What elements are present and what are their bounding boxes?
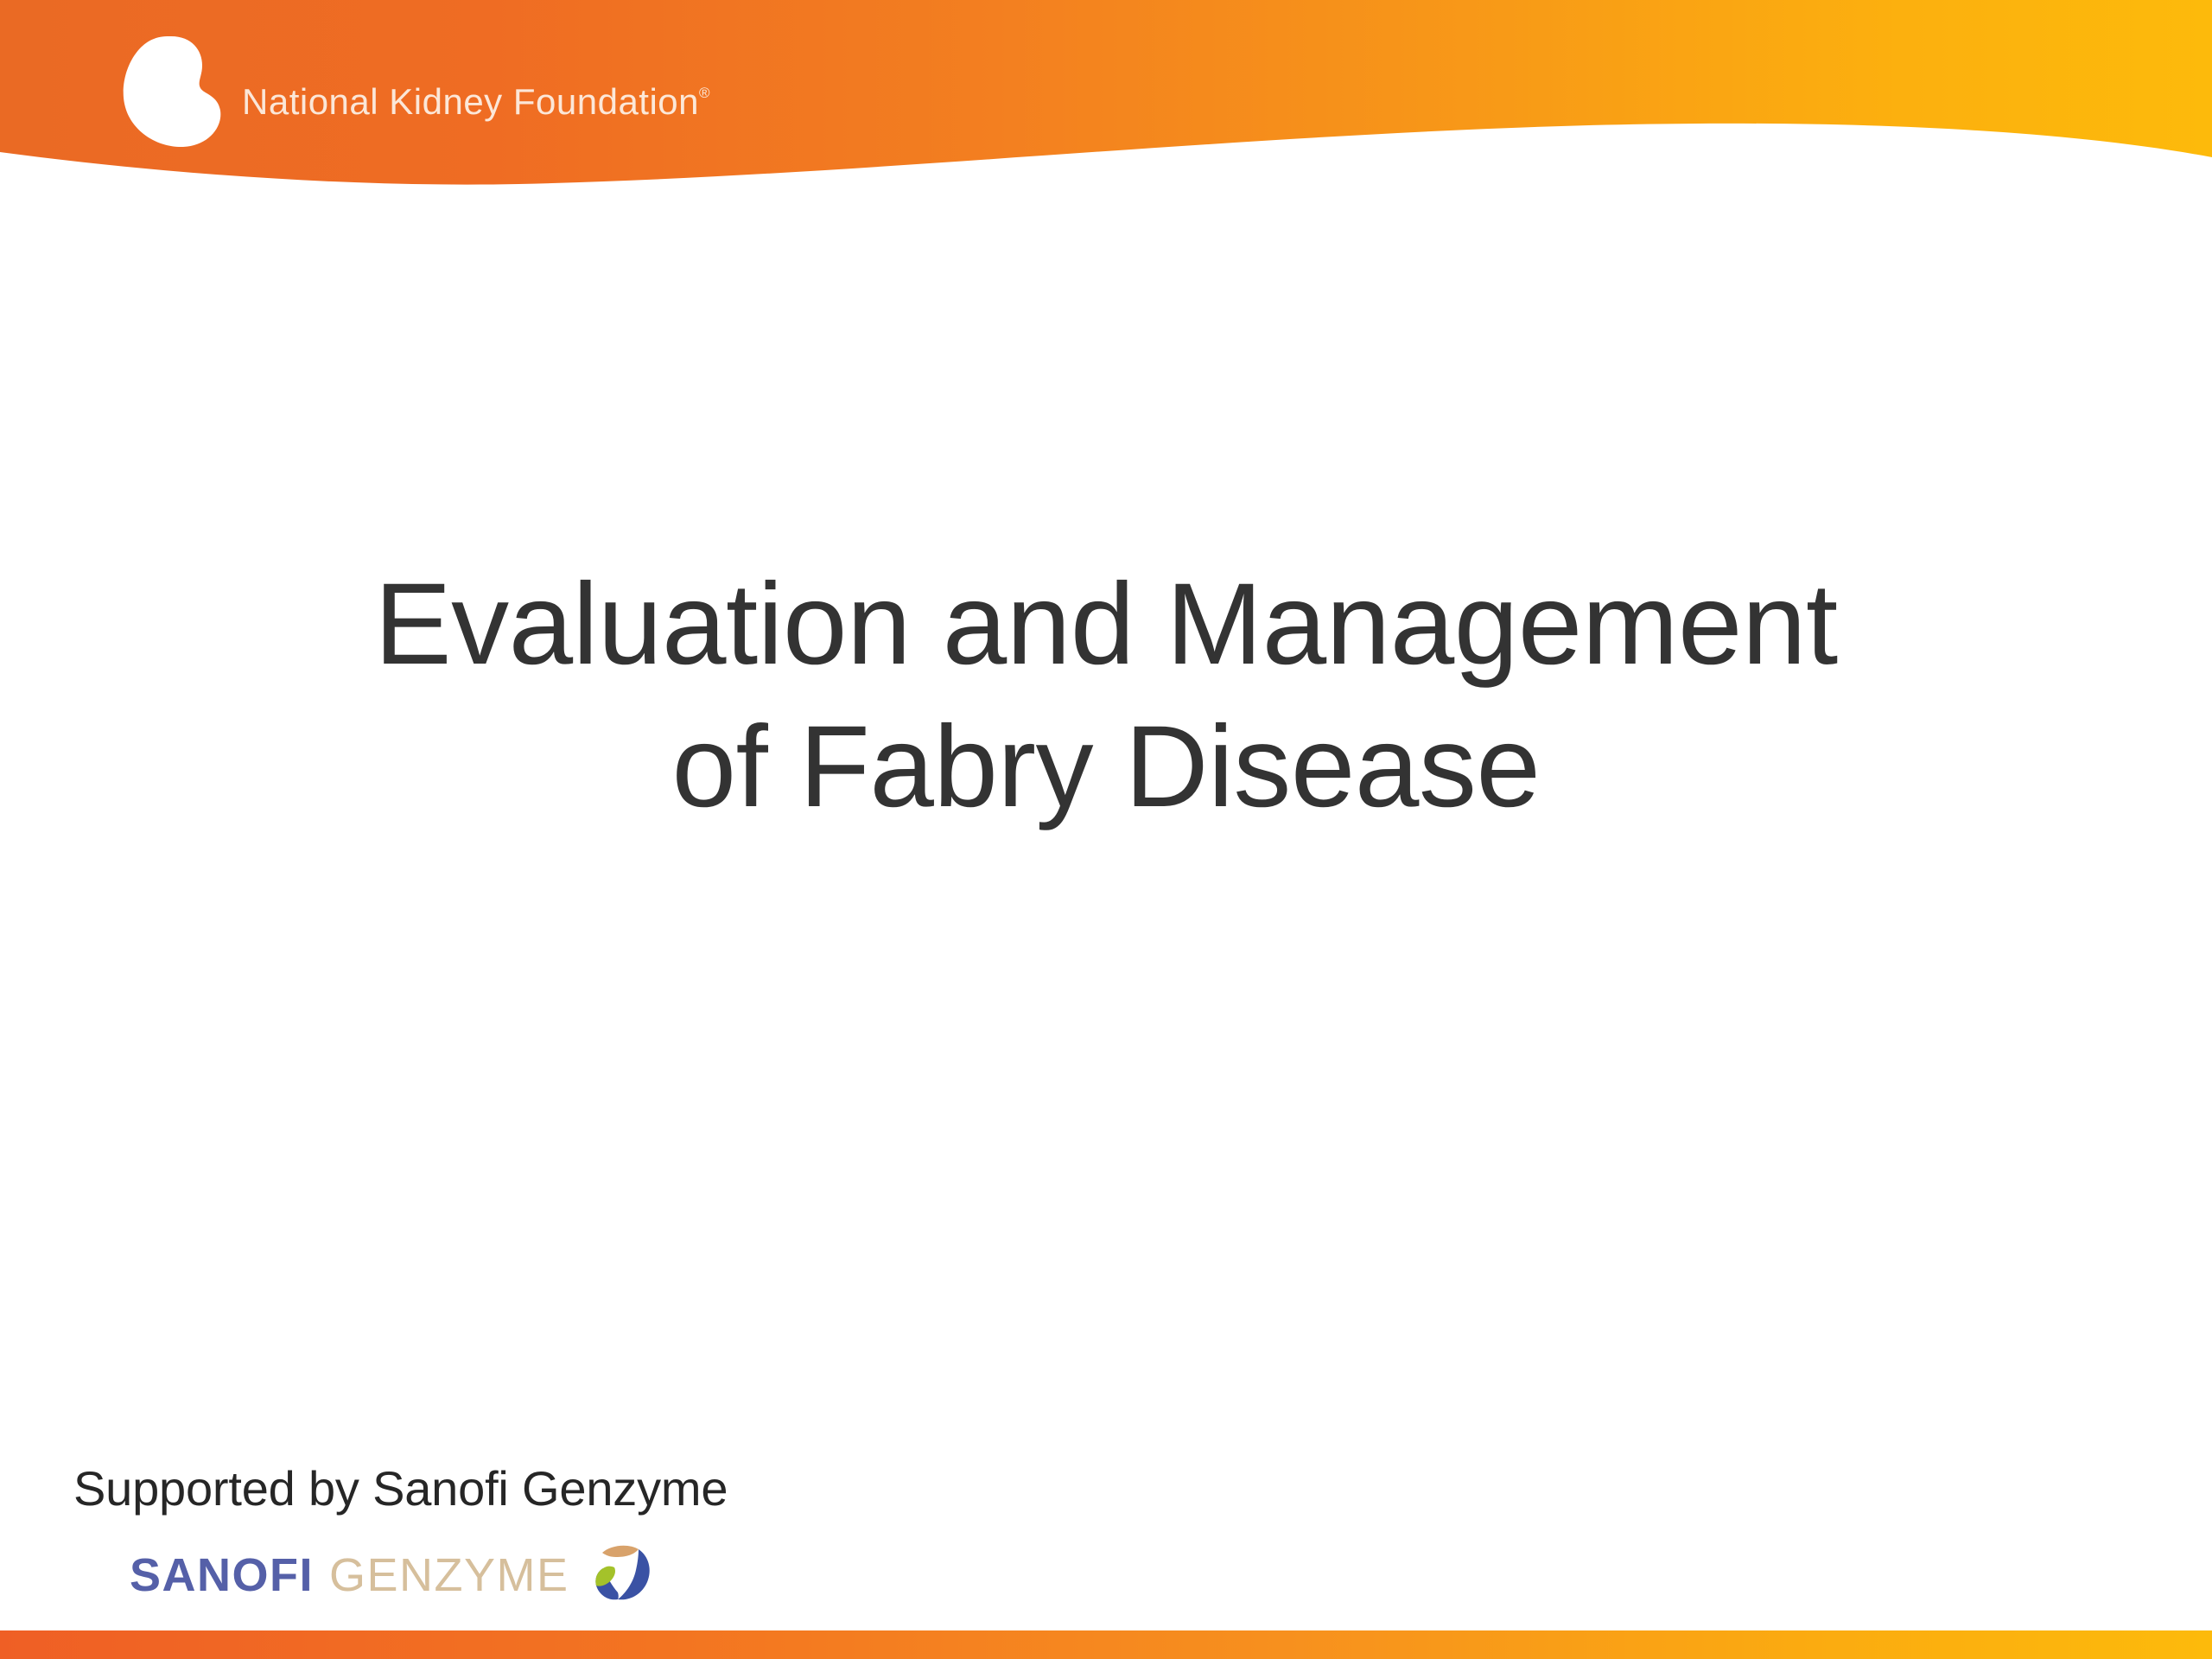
title-line-1: Evaluation and Management (190, 553, 2022, 696)
supported-by-text: Supported by Sanofi Genzyme (73, 1459, 851, 1519)
title-line-2: of Fabry Disease (190, 696, 2022, 838)
footer-accent-bar (0, 1630, 2212, 1659)
title-slide: National Kidney Foundation® Evaluation a… (0, 0, 2212, 1659)
sanofi-wordmark: SANOFI (130, 1552, 314, 1599)
registered-trademark-symbol: ® (699, 85, 710, 101)
sponsor-block: Supported by Sanofi Genzyme SANOFI GENZY… (73, 1459, 851, 1612)
nkf-organization-name: National Kidney Foundation (242, 81, 699, 122)
page-title: Evaluation and Management of Fabry Disea… (190, 553, 2022, 838)
sanofi-genzyme-logo: SANOFI GENZYME (130, 1538, 851, 1612)
nkf-wordmark: National Kidney Foundation® (242, 81, 710, 123)
kidney-bean-icon (121, 35, 223, 149)
nkf-logo: National Kidney Foundation® (121, 31, 622, 152)
genzyme-wordmark: GENZYME (329, 1552, 569, 1599)
sanofi-swirl-icon (588, 1541, 656, 1610)
